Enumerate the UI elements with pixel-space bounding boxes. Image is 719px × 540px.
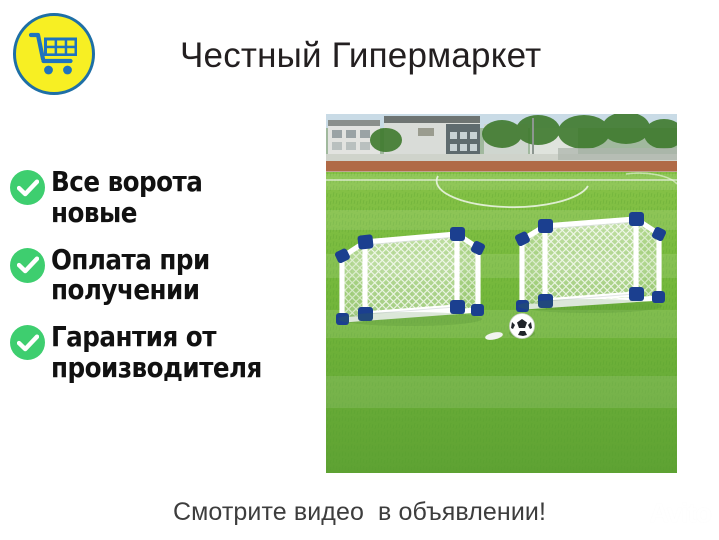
caption-text: Смотрите видео в объявлении! (0, 498, 719, 527)
football-ball (509, 314, 535, 339)
check-circle-icon (10, 325, 45, 360)
product-photo (326, 114, 677, 473)
listing-image-card: Честный Гипермаркет Все ворота новые Опл… (0, 0, 719, 540)
brand-logo (13, 13, 95, 95)
football-goals-photo (326, 114, 677, 473)
list-item-label: Все ворота новые (51, 167, 202, 229)
list-item: Оплата при получении (10, 245, 320, 307)
shopping-cart-icon (28, 31, 80, 77)
feature-list: Все ворота новые Оплата при получении Га… (10, 167, 320, 400)
check-circle-icon (10, 170, 45, 205)
check-circle-icon (10, 248, 45, 283)
list-item: Гарантия от производителя (10, 322, 320, 384)
list-item-label: Оплата при получении (51, 245, 210, 307)
list-item-label: Гарантия от производителя (51, 322, 262, 384)
page-title: Честный Гипермаркет (180, 36, 541, 76)
list-item: Все ворота новые (10, 167, 320, 229)
